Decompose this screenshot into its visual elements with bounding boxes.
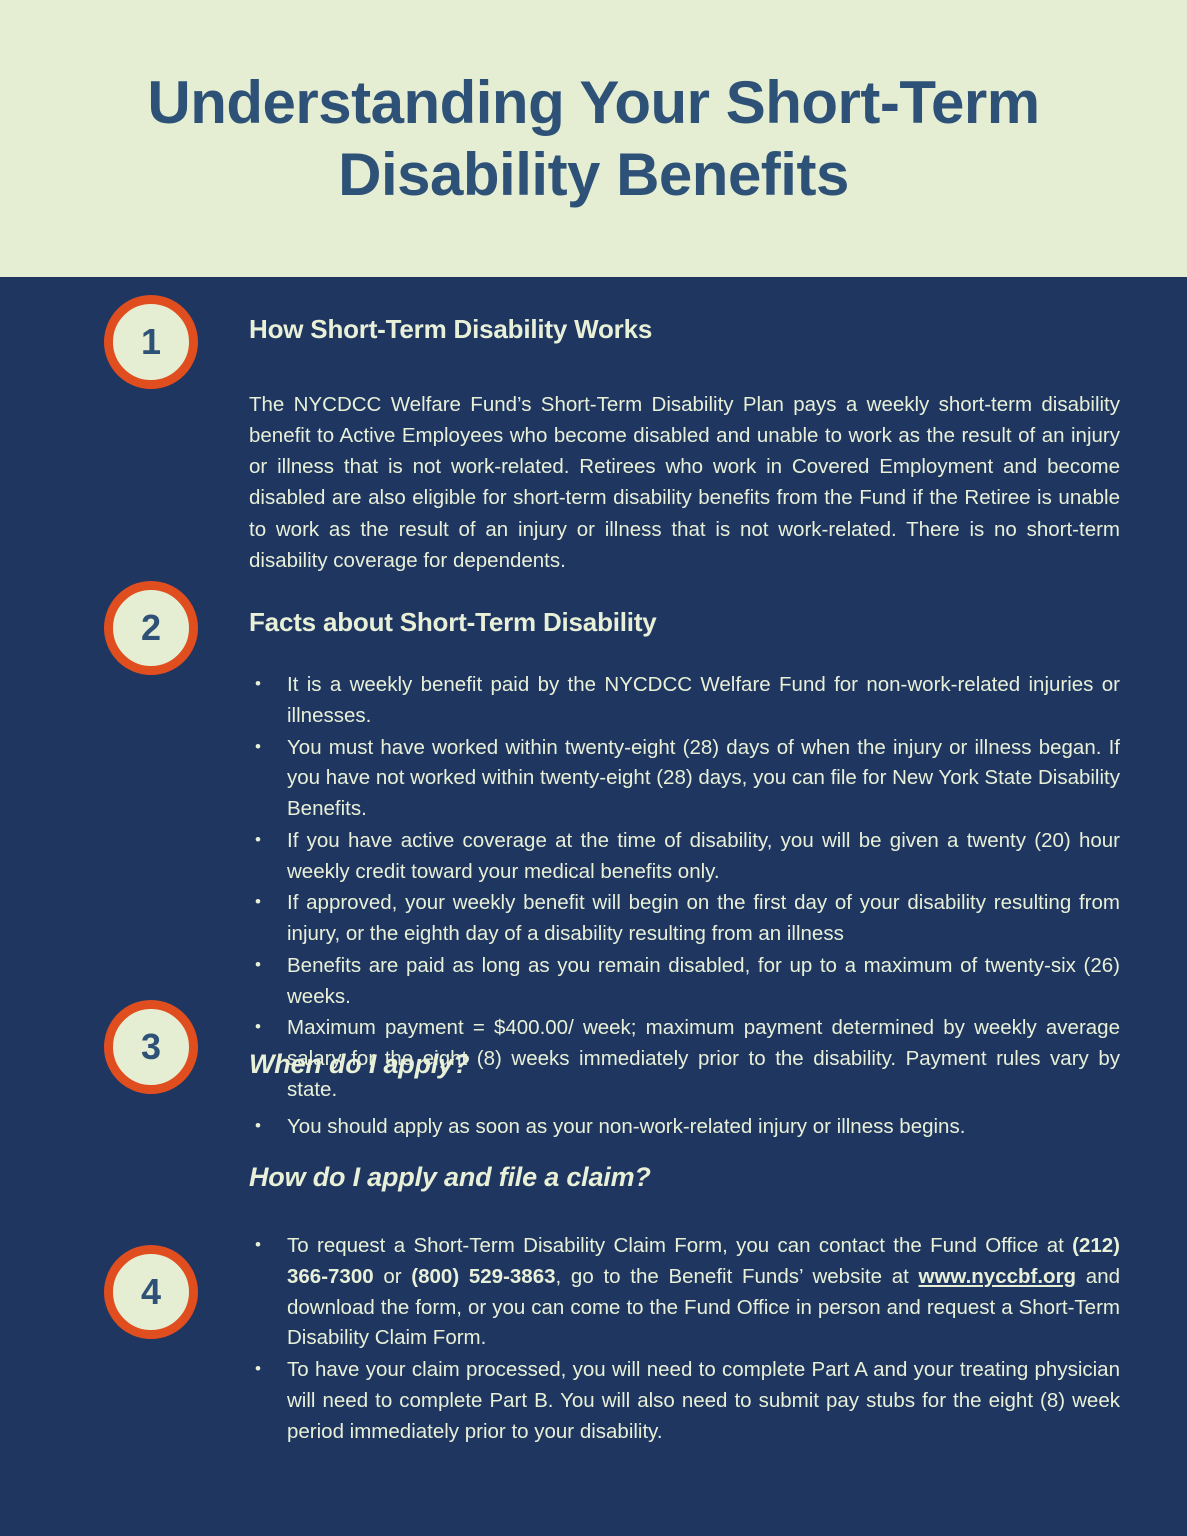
section-2-bullet-list: It is a weekly benefit paid by the NYCDC… xyxy=(249,670,1120,1106)
claim-form-text-part-1: To request a Short-Term Disability Claim… xyxy=(287,1234,1072,1257)
header-band: Understanding Your Short-Term Disability… xyxy=(0,0,1187,277)
claim-form-text-part-3: , go to the Benefit Funds’ website at xyxy=(556,1265,919,1288)
list-item: If approved, your weekly benefit will be… xyxy=(249,888,1120,950)
section-4-heading: How do I apply and file a claim? xyxy=(249,1162,1120,1193)
list-item: You must have worked within twenty-eight… xyxy=(249,733,1120,825)
fund-office-phone-toll-free: (800) 529-3863 xyxy=(411,1265,555,1288)
section-3-heading: When do I apply? xyxy=(249,1049,1120,1080)
step-badge-4: 4 xyxy=(104,1245,198,1339)
list-item: To request a Short-Term Disability Claim… xyxy=(249,1231,1120,1354)
section-1-paragraph: The NYCDCC Welfare Fund’s Short-Term Dis… xyxy=(249,389,1120,576)
list-item: If you have active coverage at the time … xyxy=(249,826,1120,888)
section-2-heading: Facts about Short-Term Disability xyxy=(249,607,1120,638)
list-item: Benefits are paid as long as you remain … xyxy=(249,951,1120,1013)
section-how-short-term-disability-works: How Short-Term Disability Works The NYCD… xyxy=(249,314,1120,576)
section-when-do-i-apply: When do I apply? You should apply as soo… xyxy=(249,1049,1120,1144)
section-1-heading: How Short-Term Disability Works xyxy=(249,314,1120,345)
benefit-funds-website-link[interactable]: www.nyccbf.org xyxy=(919,1265,1077,1288)
step-badge-2: 2 xyxy=(104,581,198,675)
list-item: It is a weekly benefit paid by the NYCDC… xyxy=(249,670,1120,732)
step-badge-3: 3 xyxy=(104,1000,198,1094)
step-badge-3-number: 3 xyxy=(141,1029,161,1065)
section-facts-about-short-term-disability: Facts about Short-Term Disability It is … xyxy=(249,607,1120,1107)
list-item: To have your claim processed, you will n… xyxy=(249,1355,1120,1447)
section-4-bullet-list: To request a Short-Term Disability Claim… xyxy=(249,1231,1120,1447)
step-badge-4-number: 4 xyxy=(141,1274,161,1310)
section-how-do-i-apply-and-file-a-claim: How do I apply and file a claim? To requ… xyxy=(249,1162,1120,1448)
section-3-bullet-list: You should apply as soon as your non-wor… xyxy=(249,1112,1120,1143)
step-badge-2-number: 2 xyxy=(141,610,161,646)
step-badge-1: 1 xyxy=(104,295,198,389)
body-area: 1 2 3 4 How Short-Term Disability Works … xyxy=(0,277,1187,1536)
step-badge-1-number: 1 xyxy=(141,324,161,360)
claim-form-text-part-2: or xyxy=(374,1265,412,1288)
page-title: Understanding Your Short-Term Disability… xyxy=(64,67,1124,210)
list-item: You should apply as soon as your non-wor… xyxy=(249,1112,1120,1143)
